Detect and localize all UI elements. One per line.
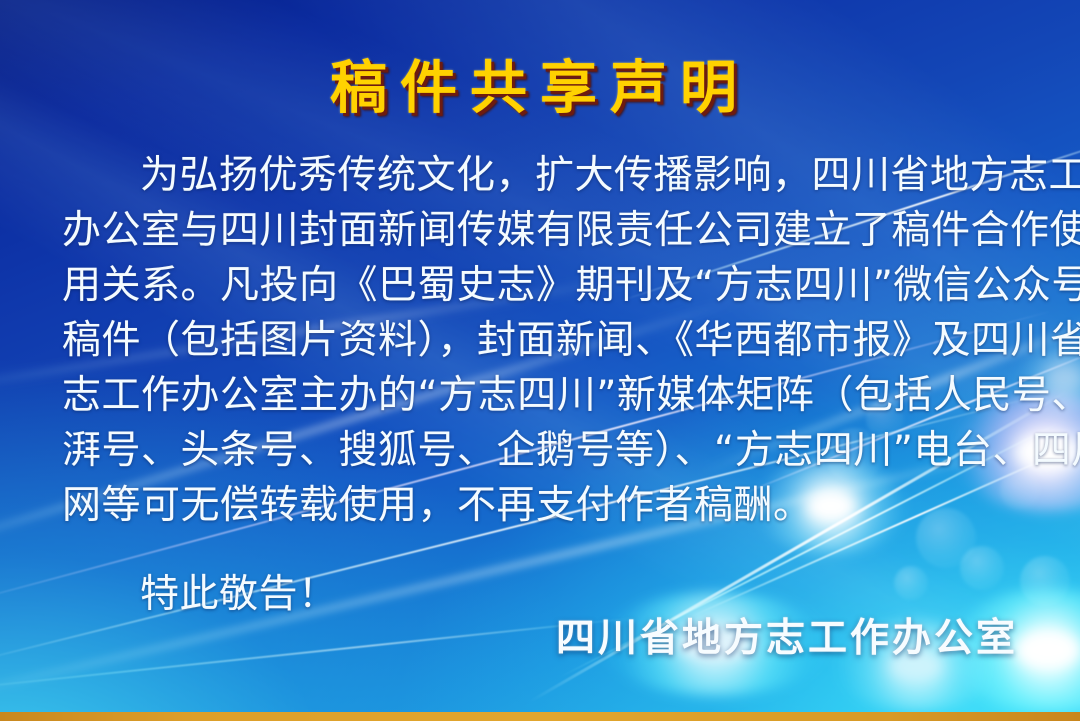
body-line: 为弘扬优秀传统文化，扩大传播影响，四川省地方志工作 — [62, 148, 1020, 203]
bottom-accent-bar — [0, 712, 1080, 721]
body-line: 志工作办公室主办的“方志四川”新媒体矩阵（包括人民号、澎 — [62, 368, 1020, 423]
body-line: 稿件（包括图片资料），封面新闻、《华西都市报》及四川省地方 — [62, 313, 1020, 368]
poster-content: 稿件共享声明 为弘扬优秀传统文化，扩大传播影响，四川省地方志工作 办公室与四川封… — [0, 0, 1080, 721]
signature-organization: 四川省地方志工作办公室 — [556, 607, 1018, 663]
body-line: 办公室与四川封面新闻传媒有限责任公司建立了稿件合作使 — [62, 203, 1020, 258]
body-line: 湃号、头条号、搜狐号、企鹅号等）、“方志四川”电台、四川省情 — [62, 423, 1020, 478]
announcement-poster: 稿件共享声明 为弘扬优秀传统文化，扩大传播影响，四川省地方志工作 办公室与四川封… — [0, 0, 1080, 721]
body-line: 网等可无偿转载使用，不再支付作者稿酬。 — [62, 478, 1020, 533]
page-title: 稿件共享声明 — [0, 42, 1080, 124]
body-line: 用关系。凡投向《巴蜀史志》期刊及“方志四川”微信公众号的 — [62, 258, 1020, 313]
announcement-body: 为弘扬优秀传统文化，扩大传播影响，四川省地方志工作 办公室与四川封面新闻传媒有限… — [62, 148, 1020, 622]
